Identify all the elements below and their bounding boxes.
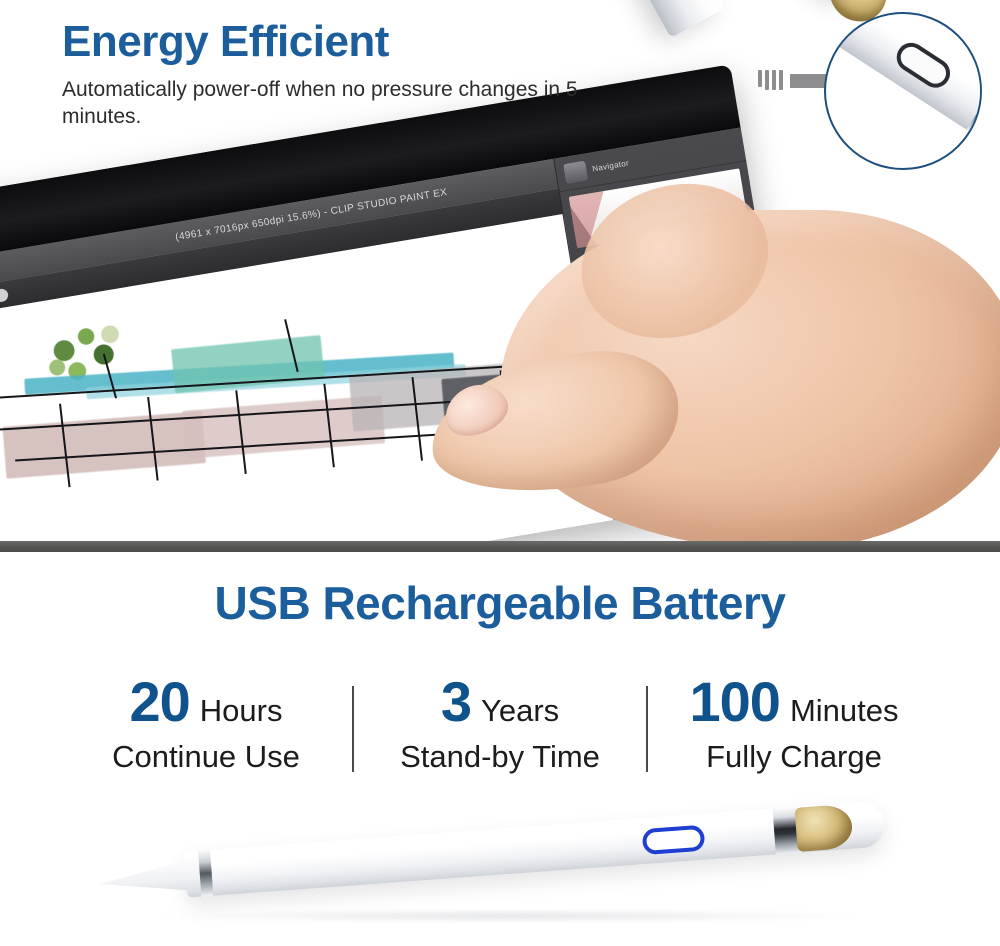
page-subtext: Automatically power-off when no pressure… [62, 76, 582, 131]
stat-fully-charge: 100 Minutes Fully Charge [648, 674, 940, 775]
pen-power-button-icon [642, 825, 706, 855]
hand-holding-pen [430, 150, 990, 541]
stat-unit: Years [481, 695, 559, 726]
stat-number: 3 [441, 674, 471, 730]
pen-assembly [98, 798, 919, 904]
product-feature-page: (4961 x 7016px 650dpi 15.6%) - CLIP STUD… [0, 0, 1000, 946]
stat-headline: 3 Years [354, 674, 646, 730]
battery-stats-row: 20 Hours Continue Use 3 Years Stand-by T… [0, 674, 1000, 784]
stat-unit: Minutes [790, 695, 899, 726]
section-divider-band [0, 541, 1000, 552]
stat-number: 100 [690, 674, 780, 730]
motion-speed-lines-icon [758, 70, 783, 90]
bottom-feature-panel: USB Rechargeable Battery 20 Hours Contin… [0, 552, 1000, 946]
stat-description: Fully Charge [648, 740, 940, 775]
inset-stylus-barrel [824, 12, 982, 161]
top-feature-panel: (4961 x 7016px 650dpi 15.6%) - CLIP STUD… [0, 0, 1000, 541]
stat-standby-time: 3 Years Stand-by Time [354, 674, 646, 775]
inset-stylus [824, 12, 982, 161]
product-pen-photo [40, 840, 920, 932]
stat-description: Continue Use [60, 740, 352, 775]
toolbar-icon-help [0, 287, 9, 302]
stat-unit: Hours [200, 695, 283, 726]
stat-headline: 20 Hours [60, 674, 352, 730]
pen-drop-shadow [160, 910, 860, 922]
stat-continue-use: 20 Hours Continue Use [60, 674, 352, 775]
stat-number: 20 [130, 674, 190, 730]
page-headline: Energy Efficient [62, 18, 582, 66]
top-copy-block: Energy Efficient Automatically power-off… [62, 18, 582, 131]
stat-description: Stand-by Time [354, 740, 646, 775]
zoom-inset-button-off [824, 12, 982, 170]
stat-headline: 100 Minutes [648, 674, 940, 730]
battery-section-title: USB Rechargeable Battery [0, 576, 1000, 630]
